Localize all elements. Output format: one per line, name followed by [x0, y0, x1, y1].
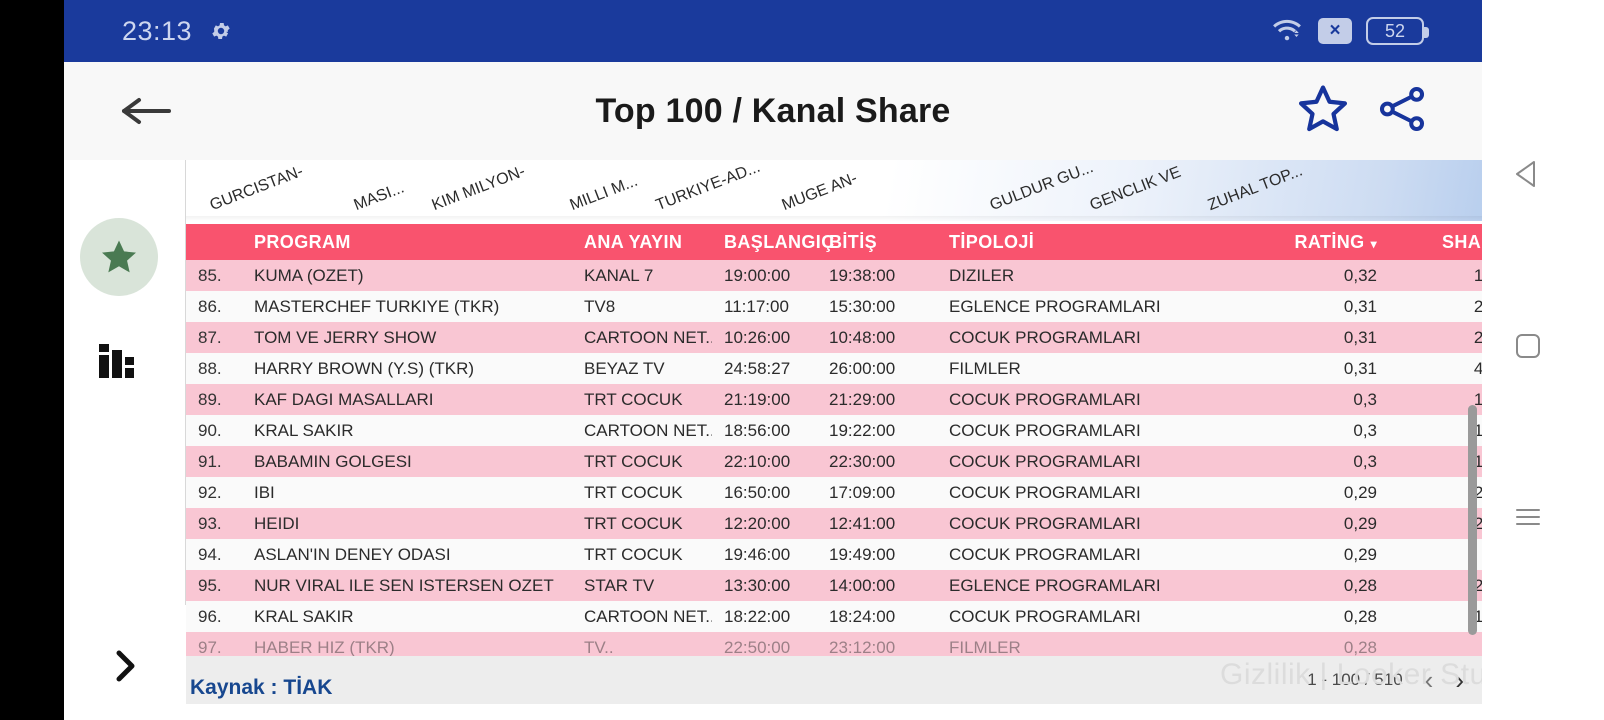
cell-rank: 95. — [186, 570, 242, 601]
col-baslangic[interactable]: BAŞLANGIÇ — [712, 224, 817, 260]
cell-baslangic: 24:58:27 — [712, 353, 817, 384]
cell-baslangic: 18:56:00 — [712, 415, 817, 446]
cell-program: TOM VE JERRY SHOW — [242, 322, 572, 353]
cell-rating: 0,28 — [1237, 570, 1389, 601]
triangle-back-icon[interactable] — [1512, 158, 1542, 195]
cell-tipoloji: FILMLER — [937, 353, 1237, 384]
cell-bitis: 19:38:00 — [817, 260, 937, 291]
cell-rank: 97. — [186, 632, 242, 656]
cell-baslangic: 11:17:00 — [712, 291, 817, 322]
status-bar-left: 23:13 — [122, 16, 232, 47]
cell-bitis: 18:24:00 — [817, 601, 937, 632]
cell-tipoloji: FILMLER — [937, 632, 1237, 656]
cell-tipoloji: EGLENCE PROGRAMLARI — [937, 291, 1237, 322]
cell-ana-yayin: CARTOON NET... — [572, 415, 712, 446]
cell-rank: 92. — [186, 477, 242, 508]
cell-rating: 0,32 — [1237, 260, 1389, 291]
cell-baslangic: 13:30:00 — [712, 570, 817, 601]
cell-bitis: 10:48:00 — [817, 322, 937, 353]
cell-rank: 94. — [186, 539, 242, 570]
table-row[interactable]: 92.IBITRT COCUK16:50:0017:09:00COCUK PRO… — [186, 477, 1482, 508]
cell-share: 4,65 — [1389, 353, 1482, 384]
cell-baslangic: 22:50:00 — [712, 632, 817, 656]
mobile-data-off-icon: × — [1318, 18, 1352, 44]
cell-tipoloji: COCUK PROGRAMLARI — [937, 322, 1237, 353]
sort-desc-icon: ▾ — [1371, 237, 1377, 251]
cell-rating: 0,28 — [1237, 632, 1389, 656]
cell-baslangic: 10:26:00 — [712, 322, 817, 353]
cell-rating: 0,29 — [1237, 508, 1389, 539]
cell-program: KUMA (OZET) — [242, 260, 572, 291]
table-row[interactable]: 93.HEIDITRT COCUK12:20:0012:41:00COCUK P… — [186, 508, 1482, 539]
cell-rating: 0,3 — [1237, 415, 1389, 446]
col-bitis[interactable]: BİTİŞ — [817, 224, 937, 260]
col-program[interactable]: PROGRAM — [242, 224, 572, 260]
table-row[interactable]: 85.KUMA (OZET)KANAL 719:00:0019:38:00DIZ… — [186, 260, 1482, 291]
axis-label: MASI... — [352, 179, 407, 215]
cell-rank: 87. — [186, 322, 242, 353]
axis-label: GULDUR GU... — [988, 160, 1097, 215]
cell-program: HARRY BROWN (Y.S) (TKR) — [242, 353, 572, 384]
cell-bitis: 22:30:00 — [817, 446, 937, 477]
cell-rating: 0,29 — [1237, 539, 1389, 570]
cell-program: NUR VIRAL ILE SEN ISTERSEN OZET — [242, 570, 572, 601]
cell-rating: 0,3 — [1237, 384, 1389, 415]
star-outline-icon[interactable] — [1294, 81, 1352, 142]
col-share[interactable]: SHARE — [1389, 224, 1482, 260]
cell-bitis: 19:49:00 — [817, 539, 937, 570]
cell-ana-yayin: CARTOON NET... — [572, 322, 712, 353]
table-row[interactable]: 88.HARRY BROWN (Y.S) (TKR)BEYAZ TV24:58:… — [186, 353, 1482, 384]
cell-baslangic: 16:50:00 — [712, 477, 817, 508]
chart-axis-labels: GURCISTAN- MASI... KIM MILYON- MILLI M..… — [186, 160, 1482, 221]
cell-tipoloji: COCUK PROGRAMLARI — [937, 477, 1237, 508]
cell-rating: 0,31 — [1237, 291, 1389, 322]
axis-label: ZUHAL TOP... — [1206, 162, 1306, 215]
battery-indicator: 52 — [1366, 17, 1424, 45]
table-row[interactable]: 89.KAF DAGI MASALLARITRT COCUK21:19:0021… — [186, 384, 1482, 415]
table-row[interactable]: 87.TOM VE JERRY SHOWCARTOON NET...10:26:… — [186, 322, 1482, 353]
cell-baslangic: 21:19:00 — [712, 384, 817, 415]
cell-ana-yayin: TRT COCUK — [572, 477, 712, 508]
next-page-button[interactable] — [64, 612, 186, 720]
app-bar-actions — [1294, 81, 1430, 142]
cell-bitis: 23:12:00 — [817, 632, 937, 656]
axis-label: KIM MILYON- — [430, 163, 528, 215]
cell-rank: 90. — [186, 415, 242, 446]
cell-ana-yayin: KANAL 7 — [572, 260, 712, 291]
cell-rank: 96. — [186, 601, 242, 632]
cell-program: MASTERCHEF TURKIYE (TKR) — [242, 291, 572, 322]
android-nav-bar — [1482, 0, 1604, 720]
source-label: Kaynak : TİAK — [190, 676, 332, 700]
cell-program: KAF DAGI MASALLARI — [242, 384, 572, 415]
report-left-rail — [64, 160, 186, 605]
phone-screen: 23:13 × 52 — [64, 0, 1482, 720]
col-rating-label: RATİNG — [1295, 232, 1365, 252]
cell-tipoloji: COCUK PROGRAMLARI — [937, 508, 1237, 539]
cell-tipoloji: COCUK PROGRAMLARI — [937, 384, 1237, 415]
cell-rank: 93. — [186, 508, 242, 539]
cell-ana-yayin: TRT COCUK — [572, 539, 712, 570]
cell-bitis: 26:00:00 — [817, 353, 937, 384]
device-frame: 23:13 × 52 — [0, 0, 1604, 720]
cell-ana-yayin: TRT COCUK — [572, 384, 712, 415]
app-bar: Top 100 / Kanal Share — [64, 62, 1482, 160]
cell-rating: 0,29 — [1237, 477, 1389, 508]
axis-label: MILLI M... — [568, 173, 641, 215]
col-rank[interactable] — [186, 224, 242, 260]
page-title: Top 100 / Kanal Share — [64, 92, 1482, 131]
cell-program: ASLAN'IN DENEY ODASI — [242, 539, 572, 570]
gear-icon[interactable] — [210, 20, 232, 42]
cell-program: BABAMIN GOLGESI — [242, 446, 572, 477]
cell-rank: 85. — [186, 260, 242, 291]
cell-bitis: 12:41:00 — [817, 508, 937, 539]
table-row[interactable]: 86.MASTERCHEF TURKIYE (TKR)TV811:17:0015… — [186, 291, 1482, 322]
report-body: GURCISTAN- MASI... KIM MILYON- MILLI M..… — [64, 160, 1482, 720]
col-rating[interactable]: RATİNG▾ — [1237, 224, 1389, 260]
cell-rating: 0,31 — [1237, 322, 1389, 353]
table-row[interactable]: 95.NUR VIRAL ILE SEN ISTERSEN OZETSTAR T… — [186, 570, 1482, 601]
cell-rating: 0,28 — [1237, 601, 1389, 632]
wifi-icon — [1270, 16, 1304, 47]
bar-chart-icon[interactable] — [95, 338, 141, 389]
cell-share: 1,5 — [1389, 632, 1482, 656]
cell-share: 2,78 — [1389, 322, 1482, 353]
table-row[interactable]: 96.KRAL SAKIRCARTOON NET...18:22:0018:24… — [186, 601, 1482, 632]
axis-label: GENCLIK VE — [1088, 164, 1184, 215]
axis-label: MUGE AN- — [780, 170, 860, 215]
cell-program: KRAL SAKIR — [242, 415, 572, 446]
cell-rating: 0,3 — [1237, 446, 1389, 477]
cell-baslangic: 19:46:00 — [712, 539, 817, 570]
cell-ana-yayin: TV.. — [572, 632, 712, 656]
cell-ana-yayin: TRT COCUK — [572, 446, 712, 477]
cell-ana-yayin: STAR TV — [572, 570, 712, 601]
cell-program: HABER HIZ (TKR) — [242, 632, 572, 656]
status-clock: 23:13 — [122, 16, 192, 47]
status-bar-right: × 52 — [1270, 16, 1424, 47]
ratings-table-container[interactable]: PROGRAM ANA YAYIN BAŞLANGIÇ BİTİŞ TİPOLO… — [186, 224, 1482, 656]
table-vertical-scrollbar[interactable] — [1468, 405, 1477, 635]
cell-ana-yayin: BEYAZ TV — [572, 353, 712, 384]
cell-tipoloji: EGLENCE PROGRAMLARI — [937, 570, 1237, 601]
square-home-icon[interactable] — [1514, 332, 1542, 365]
table-row[interactable]: 90.KRAL SAKIRCARTOON NET...18:56:0019:22… — [186, 415, 1482, 446]
cell-ana-yayin: CARTOON NET... — [572, 601, 712, 632]
cell-rank: 86. — [186, 291, 242, 322]
table-header: PROGRAM ANA YAYIN BAŞLANGIÇ BİTİŞ TİPOLO… — [186, 224, 1482, 260]
hamburger-recents-icon[interactable] — [1514, 505, 1542, 534]
cell-ana-yayin: TRT COCUK — [572, 508, 712, 539]
cell-rank: 88. — [186, 353, 242, 384]
table-body: 85.KUMA (OZET)KANAL 719:00:0019:38:00DIZ… — [186, 260, 1482, 656]
share-icon[interactable] — [1374, 82, 1430, 141]
cell-rank: 91. — [186, 446, 242, 477]
left-bezel — [0, 0, 64, 720]
table-header-row: PROGRAM ANA YAYIN BAŞLANGIÇ BİTİŞ TİPOLO… — [186, 224, 1482, 260]
status-bar: 23:13 × 52 — [64, 0, 1482, 62]
cell-share: 1,47 — [1389, 260, 1482, 291]
axis-label: GURCISTAN- — [208, 163, 306, 215]
ratings-table: PROGRAM ANA YAYIN BAŞLANGIÇ BİTİŞ TİPOLO… — [186, 224, 1482, 656]
cell-rating: 0,31 — [1237, 353, 1389, 384]
cell-tipoloji: COCUK PROGRAMLARI — [937, 539, 1237, 570]
cell-tipoloji: COCUK PROGRAMLARI — [937, 446, 1237, 477]
cell-program: HEIDI — [242, 508, 572, 539]
cell-share: 2,78 — [1389, 291, 1482, 322]
cell-program: KRAL SAKIR — [242, 601, 572, 632]
star-filled-icon[interactable] — [80, 218, 158, 296]
cell-baslangic: 12:20:00 — [712, 508, 817, 539]
axis-label: TURKIYE-AD... — [654, 160, 763, 215]
cell-bitis: 17:09:00 — [817, 477, 937, 508]
cell-baslangic: 19:00:00 — [712, 260, 817, 291]
looker-studio-watermark: Gizlilik | Looker Studio — [1220, 658, 1482, 692]
cell-bitis: 19:22:00 — [817, 415, 937, 446]
cell-tipoloji: COCUK PROGRAMLARI — [937, 415, 1237, 446]
cell-rank: 89. — [186, 384, 242, 415]
cell-tipoloji: COCUK PROGRAMLARI — [937, 601, 1237, 632]
cell-baslangic: 22:10:00 — [712, 446, 817, 477]
col-tipoloji[interactable]: TİPOLOJİ — [937, 224, 1237, 260]
col-ana-yayin[interactable]: ANA YAYIN — [572, 224, 712, 260]
cell-bitis: 15:30:00 — [817, 291, 937, 322]
table-row[interactable]: 91.BABAMIN GOLGESITRT COCUK22:10:0022:30… — [186, 446, 1482, 477]
table-row[interactable]: 94.ASLAN'IN DENEY ODASITRT COCUK19:46:00… — [186, 539, 1482, 570]
cell-tipoloji: DIZILER — [937, 260, 1237, 291]
cell-ana-yayin: TV8 — [572, 291, 712, 322]
table-row[interactable]: 97.HABER HIZ (TKR)TV..22:50:0023:12:00FI… — [186, 632, 1482, 656]
cell-program: IBI — [242, 477, 572, 508]
cell-bitis: 14:00:00 — [817, 570, 937, 601]
cell-baslangic: 18:22:00 — [712, 601, 817, 632]
cell-bitis: 21:29:00 — [817, 384, 937, 415]
